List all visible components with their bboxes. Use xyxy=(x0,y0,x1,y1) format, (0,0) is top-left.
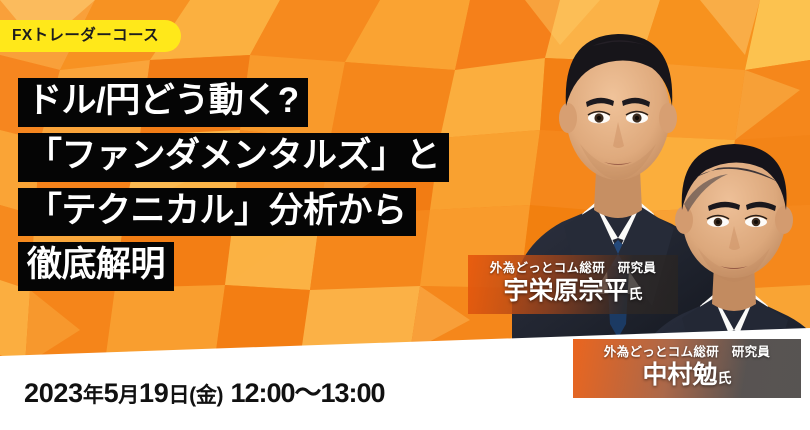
event-datetime: 2023年5月19日(金) 12:00〜13:00 xyxy=(24,371,385,410)
speaker-plate-1: 外為どっとコム総研 研究員 宇栄原宗平氏 xyxy=(468,255,678,314)
event-month-unit: 月 xyxy=(118,384,139,407)
speaker-2-name: 中村勉 xyxy=(642,361,717,389)
speaker-1-org: 外為どっとコム総研 研究員 xyxy=(482,261,664,276)
course-badge: FXトレーダーコース xyxy=(0,20,181,52)
headline-line-1: ドル/円どう動く? xyxy=(18,78,308,127)
event-weekday: (金) xyxy=(189,384,223,407)
headline: ドル/円どう動く? 「ファンダメンタルズ」と 「テクニカル」分析から 徹底解明 xyxy=(18,78,449,297)
event-time-range: 12:00〜13:00 xyxy=(230,378,384,408)
event-day: 19 xyxy=(139,378,168,408)
event-month: 5 xyxy=(104,378,119,408)
speaker-1-name: 宇栄原宗平 xyxy=(503,277,628,305)
course-badge-label: FXトレーダーコース xyxy=(12,27,159,44)
speaker-1-name-row: 宇栄原宗平氏 xyxy=(482,277,664,305)
headline-line-4: 徹底解明 xyxy=(18,242,174,291)
speaker-plate-2: 外為どっとコム総研 研究員 中村勉氏 xyxy=(573,339,801,398)
speaker-2-name-row: 中村勉氏 xyxy=(587,361,787,389)
webinar-banner: FXトレーダーコース ドル/円どう動く? 「ファンダメンタルズ」と 「テクニカル… xyxy=(0,0,810,430)
speaker-2-suffix: 氏 xyxy=(718,370,732,386)
headline-line-3: 「テクニカル」分析から xyxy=(18,188,416,237)
speaker-2-org: 外為どっとコム総研 研究員 xyxy=(587,345,787,360)
headline-line-2: 「ファンダメンタルズ」と xyxy=(18,133,449,182)
event-year-unit: 年 xyxy=(83,384,104,407)
speaker-1-suffix: 氏 xyxy=(629,286,643,302)
event-day-unit: 日 xyxy=(168,384,189,407)
event-year: 2023 xyxy=(24,378,83,408)
